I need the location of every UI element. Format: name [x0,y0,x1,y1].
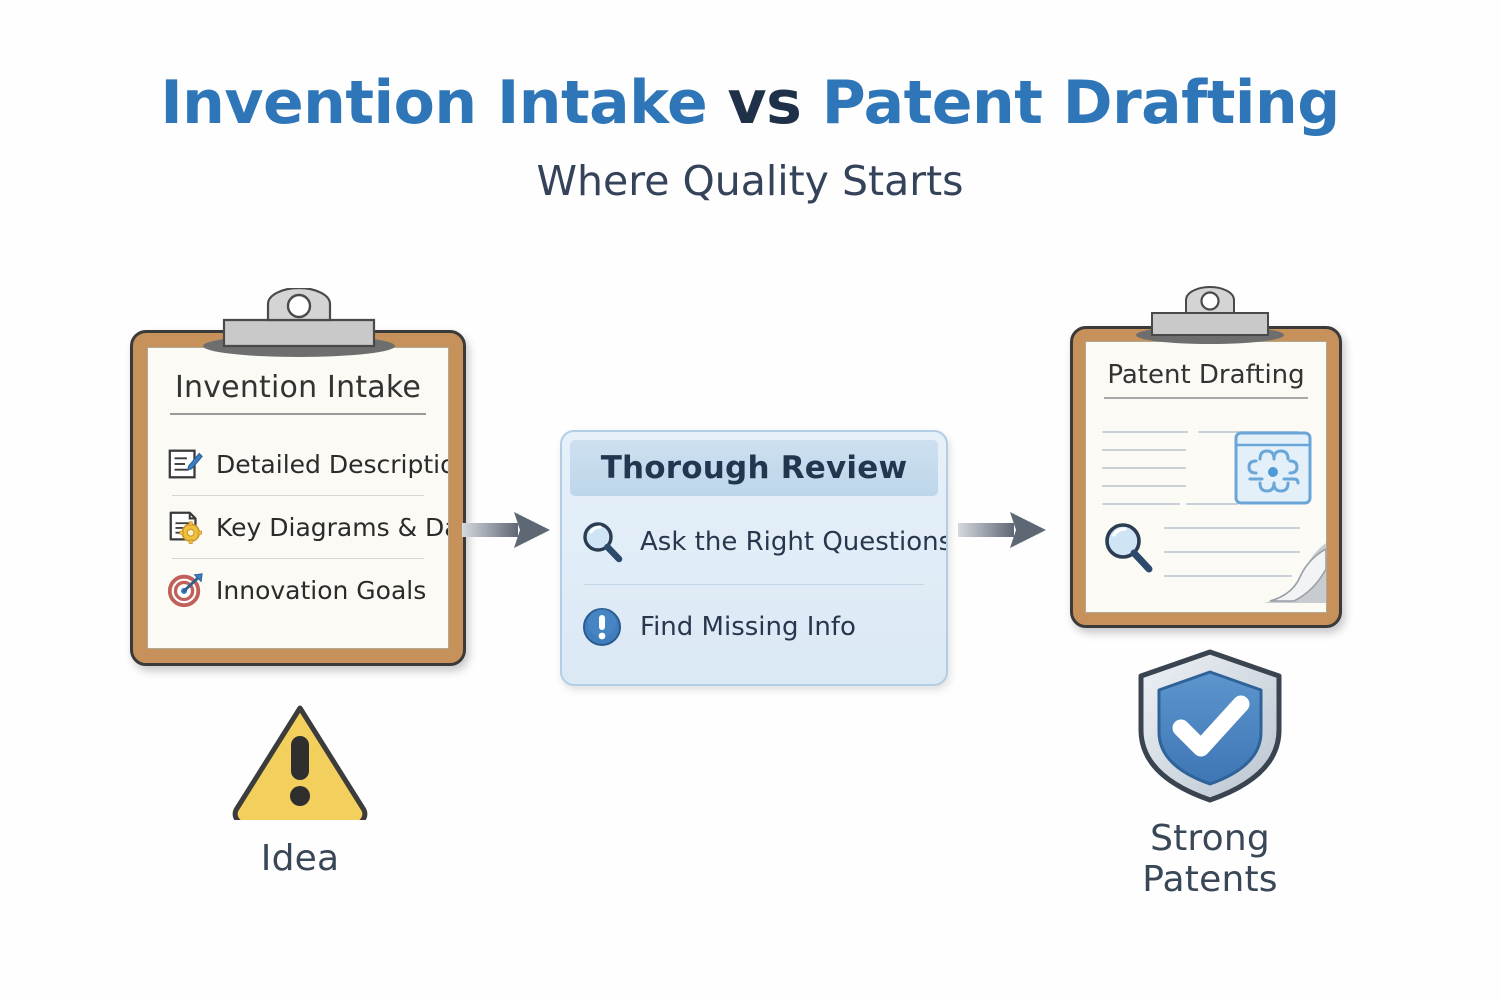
page-subtitle: Where Quality Starts [0,157,1500,205]
thorough-review-card: Thorough Review Ask the Right Questions … [560,430,948,686]
warning-triangle-icon [230,700,370,820]
technical-diagram-icon [1234,431,1312,505]
idea-badge-label: Idea [200,838,400,879]
text-line [1102,449,1186,451]
document-gear-icon [166,508,204,546]
magnifier-icon [580,520,624,564]
title-part-invention-intake: Invention Intake [160,68,707,138]
drafting-heading: Patent Drafting [1086,360,1326,390]
review-list: Ask the Right Questions Find Missing Inf… [562,500,946,669]
list-item-label: Find Missing Info [640,612,856,642]
list-item[interactable]: Ask the Right Questions [580,500,928,584]
review-heading: Thorough Review [601,450,908,486]
invention-intake-clipboard: Invention Intake Detailed Descriptions [130,330,466,666]
strong-patents-badge: Strong Patents [1090,648,1330,900]
patent-drafting-clipboard: Patent Drafting [1070,326,1342,628]
page-title: Invention Intake vs Patent Drafting [0,72,1500,135]
target-dart-icon [166,571,204,609]
list-item-label: Ask the Right Questions [640,527,948,557]
document-pencil-icon [166,445,204,483]
list-item-label: Innovation Goals [216,576,426,605]
shield-check-icon [1135,648,1285,804]
drafting-paper: Patent Drafting [1085,341,1327,613]
title-connector-vs: vs [728,68,802,138]
arrow-right-icon [958,508,1048,552]
text-line [1102,485,1186,487]
intake-heading-rule [170,413,426,415]
text-line [1102,431,1188,433]
list-item-label: Detailed Descriptions [216,450,449,479]
list-item[interactable]: Find Missing Info [580,585,928,669]
drafting-body [1086,413,1326,603]
list-item[interactable]: Innovation Goals [166,559,430,621]
list-item[interactable]: Detailed Descriptions [166,433,430,495]
strong-patents-badge-label: Strong Patents [1090,818,1330,900]
intake-paper: Invention Intake Detailed Descriptions [147,347,449,649]
text-line [1164,527,1300,529]
title-block: Invention Intake vs Patent Drafting Wher… [0,72,1500,205]
idea-badge: Idea [200,700,400,879]
intake-list: Detailed Descriptions [148,433,448,621]
magnifier-icon [1100,519,1156,575]
intake-heading: Invention Intake [148,370,448,405]
list-item-label: Key Diagrams & Data [216,513,449,542]
text-line [1102,467,1186,469]
text-line [1186,503,1238,505]
page-curl-icon [1264,543,1326,603]
text-line [1102,503,1180,505]
list-item[interactable]: Key Diagrams & Data [166,496,430,558]
title-part-patent-drafting: Patent Drafting [822,68,1340,138]
review-header-band: Thorough Review [570,440,938,496]
drafting-heading-rule [1104,397,1308,399]
info-exclamation-icon [580,605,624,649]
arrow-right-icon [462,508,552,552]
